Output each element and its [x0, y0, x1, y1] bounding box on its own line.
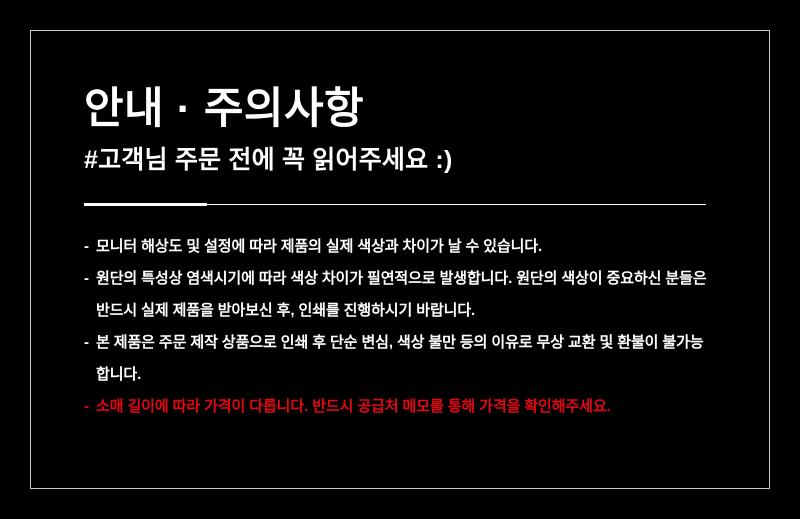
- notice-card: 안내 · 주의사항 #고객님 주문 전에 꼭 읽어주세요 :) - 모니터 해상…: [0, 0, 800, 519]
- page-title: 안내 · 주의사항: [84, 84, 716, 134]
- list-item: - 원단의 특성상 염색시기에 따라 색상 차이가 필연적으로 발생합니다. 원…: [84, 263, 716, 327]
- bullet-dash-icon: -: [84, 231, 96, 263]
- list-item-text: 원단의 특성상 염색시기에 따라 색상 차이가 필연적으로 발생합니다. 원단의…: [96, 263, 716, 327]
- page-subtitle: #고객님 주문 전에 꼭 읽어주세요 :): [84, 143, 716, 177]
- list-item-text: 본 제품은 주문 제작 상품으로 인쇄 후 단순 변심, 색상 불만 등의 이유…: [96, 327, 716, 391]
- bullet-dash-icon: -: [84, 263, 96, 295]
- divider-thin-segment: [84, 204, 706, 205]
- list-item-text: 소매 길이에 따라 가격이 다릅니다. 반드시 공급처 메모를 통해 가격을 확…: [96, 391, 716, 423]
- notice-list: - 모니터 해상도 및 설정에 따라 제품의 실제 색상과 차이가 날 수 있습…: [84, 231, 716, 423]
- list-item: - 모니터 해상도 및 설정에 따라 제품의 실제 색상과 차이가 날 수 있습…: [84, 231, 716, 263]
- bullet-dash-icon: -: [84, 391, 96, 423]
- list-item-text: 모니터 해상도 및 설정에 따라 제품의 실제 색상과 차이가 날 수 있습니다…: [96, 231, 716, 263]
- list-item: - 본 제품은 주문 제작 상품으로 인쇄 후 단순 변심, 색상 불만 등의 …: [84, 327, 716, 391]
- bullet-dash-icon: -: [84, 327, 96, 359]
- list-item-highlighted: - 소매 길이에 따라 가격이 다릅니다. 반드시 공급처 메모를 통해 가격을…: [84, 391, 716, 423]
- notice-content: 안내 · 주의사항 #고객님 주문 전에 꼭 읽어주세요 :) - 모니터 해상…: [84, 84, 716, 423]
- divider: [84, 203, 716, 207]
